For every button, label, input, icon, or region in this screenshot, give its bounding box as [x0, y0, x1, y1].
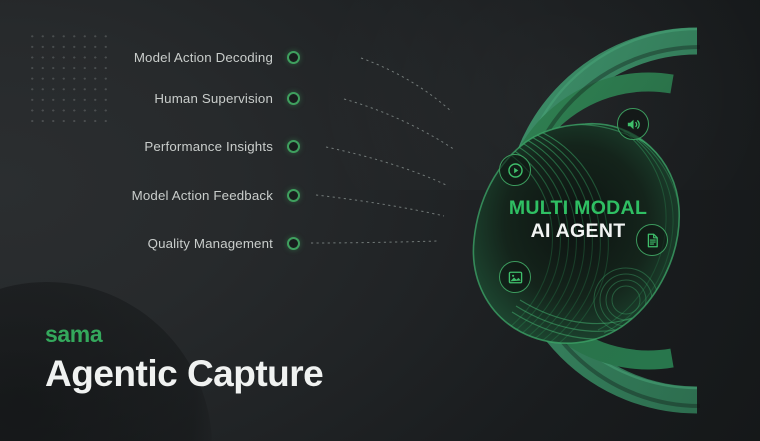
modality-badge-audio[interactable] — [617, 108, 649, 140]
center-title-block: MULTI MODAL AI AGENT — [492, 198, 664, 243]
feature-node-dot-3 — [287, 140, 300, 153]
feature-label-4: Model Action Feedback — [132, 188, 273, 203]
feature-item-2[interactable]: Human Supervision — [17, 91, 300, 106]
modality-badge-image[interactable] — [499, 261, 531, 293]
feature-label-2: Human Supervision — [154, 91, 273, 106]
feature-label-5: Quality Management — [148, 236, 273, 251]
play-icon — [507, 162, 524, 179]
image-icon — [507, 269, 524, 286]
feature-label-3: Performance Insights — [144, 139, 273, 154]
feature-item-1[interactable]: Model Action Decoding — [0, 50, 300, 65]
feature-node-dot-1 — [287, 51, 300, 64]
feature-node-dot-2 — [287, 92, 300, 105]
page-title: Agentic Capture — [45, 353, 323, 395]
slide-canvas: Model Action Decoding Human Supervision … — [0, 0, 760, 441]
sama-logo: sama — [45, 321, 102, 348]
center-title-line1: MULTI MODAL — [492, 198, 664, 219]
feature-node-dot-4 — [287, 189, 300, 202]
center-title-line2: AI AGENT — [492, 219, 664, 243]
modality-badge-video[interactable] — [499, 154, 531, 186]
feature-item-5[interactable]: Quality Management — [49, 236, 300, 251]
speaker-icon — [625, 116, 642, 133]
feature-item-3[interactable]: Performance Insights — [35, 139, 300, 154]
feature-label-1: Model Action Decoding — [134, 50, 273, 65]
feature-node-dot-5 — [287, 237, 300, 250]
feature-item-4[interactable]: Model Action Feedback — [44, 188, 300, 203]
